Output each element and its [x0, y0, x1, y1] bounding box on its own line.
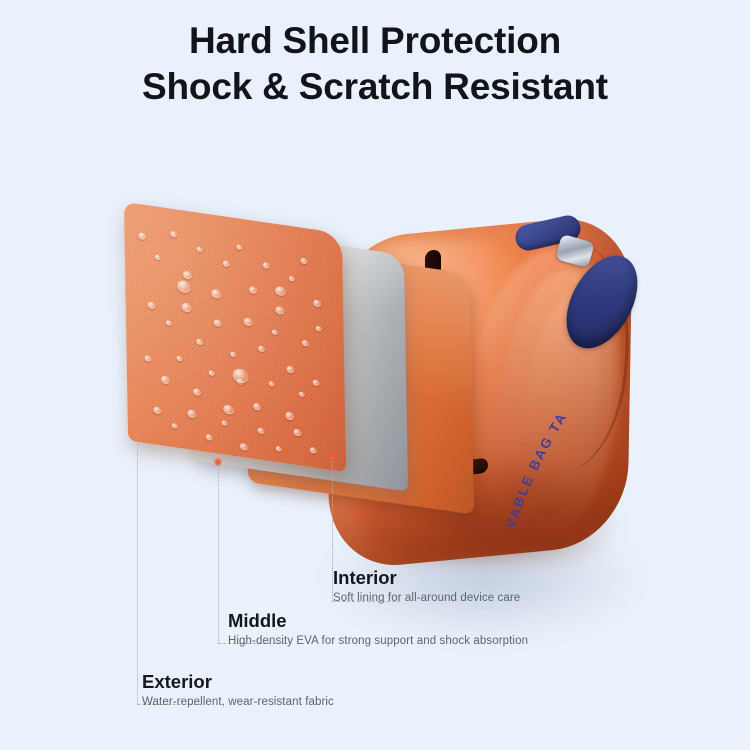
water-droplet	[310, 447, 317, 454]
water-droplet	[313, 299, 321, 307]
water-droplet	[182, 302, 192, 312]
water-droplet	[187, 409, 196, 418]
water-droplet	[193, 388, 201, 396]
water-droplet	[275, 286, 286, 297]
water-droplet	[299, 391, 305, 397]
water-droplet	[269, 381, 275, 387]
water-droplet	[197, 246, 203, 252]
water-droplet	[230, 351, 236, 357]
water-droplet	[223, 404, 234, 415]
water-droplet	[276, 446, 282, 452]
water-droplet	[272, 329, 278, 335]
water-droplet	[211, 289, 221, 299]
page-title-line-1: Hard Shell Protection	[0, 18, 750, 64]
annotation-middle-label: Middle	[228, 609, 528, 633]
water-droplet	[258, 427, 265, 434]
water-droplet	[153, 406, 161, 414]
water-droplet	[176, 356, 182, 362]
water-droplet	[263, 262, 270, 269]
water-droplet	[206, 434, 213, 441]
water-droplet	[313, 379, 320, 386]
annotation-exterior: Exterior Water-repellent, wear-resistant…	[142, 670, 334, 711]
water-droplet	[155, 254, 161, 260]
water-droplet	[240, 443, 248, 451]
water-droplet	[253, 403, 261, 411]
water-droplet	[249, 286, 257, 294]
water-droplet	[214, 319, 222, 327]
water-droplet	[138, 232, 146, 240]
layer-swatch-exterior	[124, 202, 346, 472]
water-droplet	[196, 338, 203, 345]
product-feature-image: Hard Shell Protection Shock & Scratch Re…	[0, 0, 750, 750]
water-droplet	[286, 365, 294, 373]
water-droplet	[170, 231, 177, 238]
water-droplet	[300, 257, 307, 264]
marker-dot-interior	[329, 454, 335, 460]
water-droplet	[223, 260, 230, 267]
marker-dot-middle	[215, 459, 221, 465]
water-droplet	[172, 423, 178, 429]
water-droplet	[148, 301, 156, 309]
water-droplet	[161, 375, 170, 384]
annotation-middle: Middle High-density EVA for strong suppo…	[228, 609, 528, 650]
water-droplets	[124, 202, 346, 472]
water-droplet	[236, 244, 242, 250]
water-droplet	[177, 280, 191, 294]
page-title-line-2: Shock & Scratch Resistant	[0, 64, 750, 110]
annotation-interior-label: Interior	[333, 566, 520, 590]
annotation-interior-description: Soft lining for all-around device care	[333, 590, 520, 607]
water-droplet	[233, 368, 249, 384]
water-droplet	[285, 411, 294, 420]
water-droplet	[145, 355, 152, 362]
annotation-exterior-label: Exterior	[142, 670, 334, 694]
water-droplet	[258, 345, 265, 352]
water-droplet	[244, 317, 253, 326]
water-droplet	[293, 428, 301, 436]
annotation-exterior-description: Water-repellent, wear-resistant fabric	[142, 694, 334, 711]
annotation-middle-description: High-density EVA for strong support and …	[228, 633, 528, 650]
water-droplet	[209, 370, 215, 376]
water-droplet	[289, 276, 295, 282]
product-exploded-view: VABLE BAG TA	[0, 120, 750, 590]
water-droplet	[221, 420, 227, 426]
water-droplet	[302, 340, 309, 347]
water-droplet	[183, 270, 192, 279]
page-title: Hard Shell Protection Shock & Scratch Re…	[0, 18, 750, 110]
annotation-interior: Interior Soft lining for all-around devi…	[333, 566, 520, 607]
water-droplet	[275, 306, 284, 315]
water-droplet	[316, 326, 322, 332]
water-droplet	[166, 320, 172, 326]
